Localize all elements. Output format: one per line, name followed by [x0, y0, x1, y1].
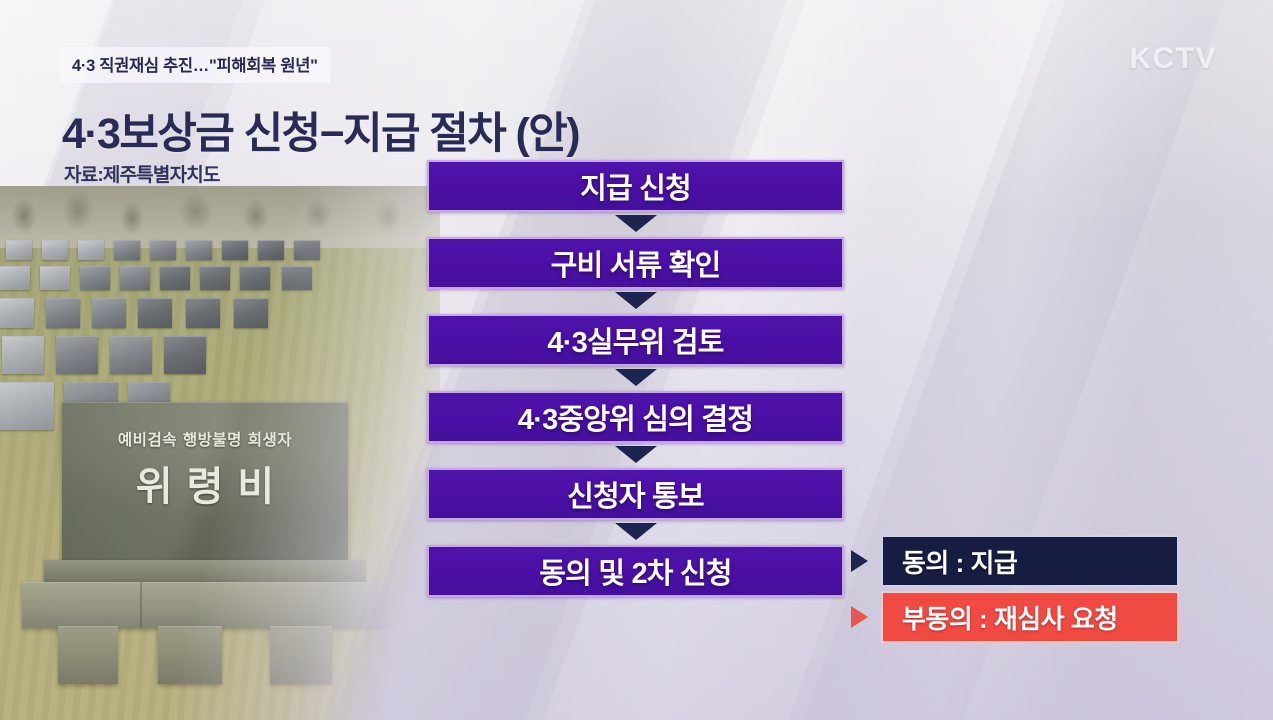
callout-agree-box: 동의 : 지급 [881, 535, 1179, 587]
callout-disagree-label: 부동의 : 재심사 요청 [902, 599, 1118, 636]
photo-monument-stone: 예비검속 행방불명 희생자 위령비 [62, 402, 348, 560]
flow-arrow-down-icon [615, 215, 657, 232]
outcome-callouts: 동의 : 지급 부동의 : 재심사 요청 [849, 535, 1179, 643]
flow-step-label: 4·3실무위 검토 [547, 319, 723, 361]
flow-step-label: 동의 및 2차 신청 [539, 550, 731, 592]
monument-inscription-line-2: 위령비 [62, 454, 348, 512]
kctv-logo: KCTV [1129, 42, 1217, 76]
topic-tag: 4·3 직권재심 추진…"피해회복 원년" [60, 47, 330, 83]
callout-disagree-box: 부동의 : 재심사 요청 [881, 591, 1179, 643]
memorial-photo: 예비검속 행방불명 희생자 위령비 [0, 186, 440, 720]
flow-step-6: 동의 및 2차 신청 [427, 545, 844, 597]
flow-step-label: 지급 신청 [580, 165, 691, 207]
flow-step-label: 신청자 통보 [567, 473, 704, 515]
photo-monument-base-lower [22, 582, 388, 628]
photo-monument-base-upper [44, 560, 366, 582]
photo-stone-block [58, 626, 118, 684]
callout-agree: 동의 : 지급 [849, 535, 1179, 587]
flow-step-4: 4·3중앙위 심의 결정 [427, 391, 844, 443]
flowchart: 지급 신청 구비 서류 확인 4·3실무위 검토 4·3중앙위 심의 결정 신청… [427, 160, 844, 597]
flow-step-2: 구비 서류 확인 [427, 237, 844, 289]
arrow-right-icon [851, 606, 868, 628]
source-credit: 자료:제주특별자치도 [64, 160, 220, 187]
photo-stone-block [158, 626, 222, 684]
flow-arrow-down-icon [615, 446, 657, 463]
monument-inscription-line-1: 예비검속 행방불명 희생자 [62, 428, 348, 450]
page-title: 4·3보상금 신청−지급 절차 (안) [62, 99, 579, 161]
flow-step-3: 4·3실무위 검토 [427, 314, 844, 366]
news-graphic-stage: 예비검속 행방불명 희생자 위령비 KCTV 4·3 직권재심 추진…"피해회복… [0, 0, 1273, 720]
callout-disagree: 부동의 : 재심사 요청 [849, 591, 1179, 643]
flow-arrow-down-icon [615, 369, 657, 386]
callout-agree-label: 동의 : 지급 [902, 543, 1017, 580]
photo-stone-block [270, 626, 332, 684]
flow-step-label: 구비 서류 확인 [551, 242, 721, 284]
arrow-right-icon [851, 550, 868, 572]
flow-step-label: 4·3중앙위 심의 결정 [518, 396, 753, 438]
flow-arrow-down-icon [615, 523, 657, 540]
flow-step-1: 지급 신청 [427, 160, 844, 212]
flow-step-5: 신청자 통보 [427, 468, 844, 520]
flow-arrow-down-icon [615, 292, 657, 309]
